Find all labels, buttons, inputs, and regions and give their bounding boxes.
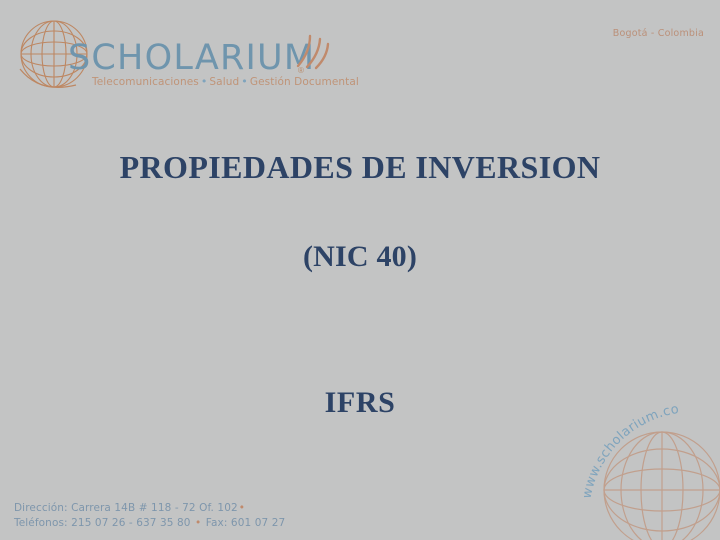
header-location: Bogotá - Colombia bbox=[613, 28, 704, 39]
title-block: PROPIEDADES DE INVERSION (NIC 40) IFRS bbox=[0, 150, 720, 420]
presentation-slide: SCHOLARIUM ® Telecomunicaciones•Salud•Ge… bbox=[0, 0, 720, 540]
registered-trademark-icon: ® bbox=[298, 66, 304, 75]
standard-label: IFRS bbox=[0, 274, 720, 420]
brand-tagline: Telecomunicaciones•Salud•Gestión Documen… bbox=[92, 75, 359, 88]
tagline-separator-2: • bbox=[239, 75, 250, 88]
page-subtitle: (NIC 40) bbox=[0, 185, 720, 274]
footer-address: Dirección: Carrera 14B # 118 - 72 Of. 10… bbox=[14, 502, 238, 514]
tagline-part-telecomunicaciones: Telecomunicaciones bbox=[92, 76, 199, 88]
footer-phones: 215 07 26 - 637 35 80 bbox=[71, 517, 190, 529]
tagline-part-salud: Salud bbox=[209, 76, 239, 88]
footer-phone-separator: • bbox=[194, 517, 202, 529]
signal-arcs-icon bbox=[286, 32, 330, 70]
tagline-part-gestion-documental: Gestión Documental bbox=[250, 76, 359, 88]
footer-address-line: Dirección: Carrera 14B # 118 - 72 Of. 10… bbox=[14, 501, 285, 517]
footer-fax: 601 07 27 bbox=[231, 517, 285, 529]
footer-address-dot: • bbox=[238, 502, 246, 514]
footer-phone-line: Teléfonos: 215 07 26 - 637 35 80 • Fax: … bbox=[14, 516, 285, 532]
brand-wordmark: SCHOLARIUM bbox=[68, 38, 315, 78]
footer-contact: Dirección: Carrera 14B # 118 - 72 Of. 10… bbox=[14, 501, 285, 533]
brand-logo: SCHOLARIUM ® Telecomunicaciones•Salud•Ge… bbox=[14, 12, 334, 98]
tagline-separator-1: • bbox=[199, 75, 210, 88]
footer-phones-label: Teléfonos: bbox=[14, 517, 68, 529]
page-title: PROPIEDADES DE INVERSION bbox=[0, 150, 720, 185]
watermark-globe-icon bbox=[584, 428, 720, 540]
footer-fax-label: Fax: bbox=[206, 517, 228, 529]
